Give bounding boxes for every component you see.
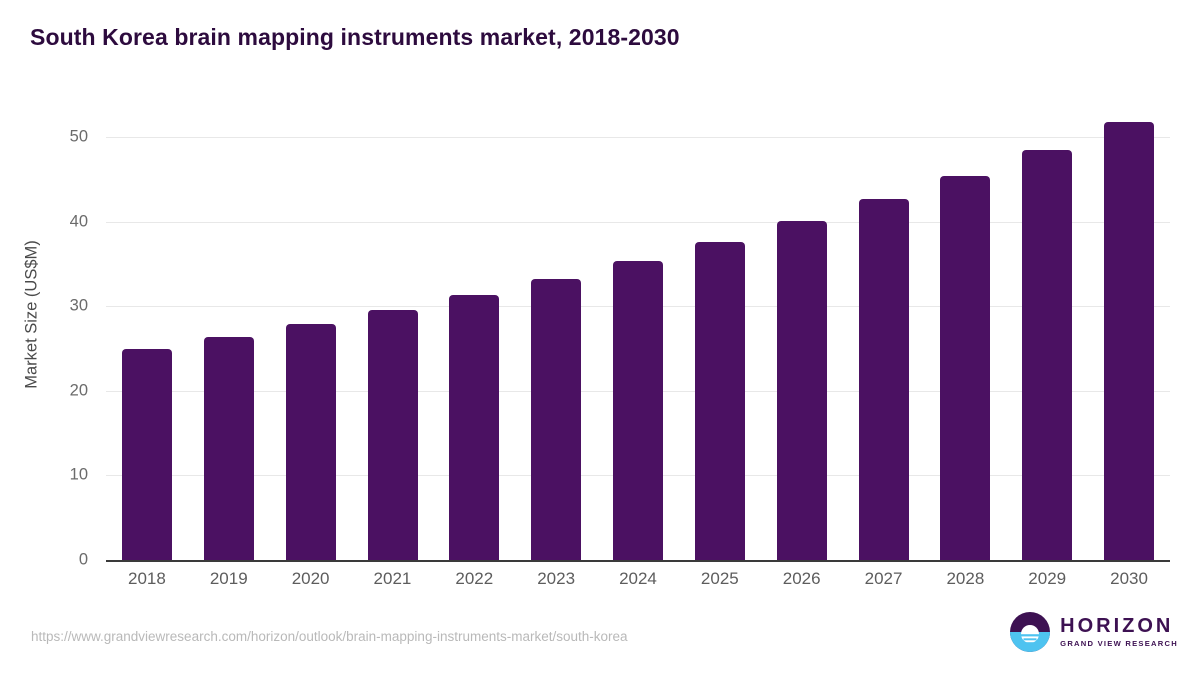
x-tick-label-2019: 2019 bbox=[188, 569, 270, 589]
x-tick-label-2020: 2020 bbox=[270, 569, 352, 589]
bar-2020[interactable] bbox=[286, 324, 336, 560]
horizon-logo[interactable]: HORIZON GRAND VIEW RESEARCH bbox=[1010, 612, 1178, 652]
logo-tagline: GRAND VIEW RESEARCH bbox=[1060, 640, 1178, 648]
x-axis-line bbox=[106, 560, 1170, 562]
y-axis-tick-labels: 01020304050 bbox=[0, 95, 100, 595]
bar-series bbox=[106, 95, 1170, 560]
chart-plot-area: Market Size (US$M) 01020304050 201820192… bbox=[0, 95, 1200, 595]
bar-slot bbox=[761, 95, 843, 560]
y-tick-label: 0 bbox=[79, 551, 88, 570]
bar-slot bbox=[1088, 95, 1170, 560]
x-axis-tick-labels: 2018201920202021202220232024202520262027… bbox=[106, 569, 1170, 599]
bar-2030[interactable] bbox=[1104, 122, 1154, 560]
bar-slot bbox=[433, 95, 515, 560]
bar-slot bbox=[597, 95, 679, 560]
bar-slot bbox=[924, 95, 1006, 560]
bar-slot bbox=[106, 95, 188, 560]
horizon-sunset-icon bbox=[1010, 612, 1050, 652]
bar-2028[interactable] bbox=[940, 176, 990, 560]
page-title: South Korea brain mapping instruments ma… bbox=[30, 24, 680, 51]
x-tick-label-2023: 2023 bbox=[515, 569, 597, 589]
source-url[interactable]: https://www.grandviewresearch.com/horizo… bbox=[31, 629, 628, 644]
x-tick-label-2021: 2021 bbox=[352, 569, 434, 589]
bar-2026[interactable] bbox=[777, 221, 827, 560]
bar-2024[interactable] bbox=[613, 261, 663, 560]
bar-2027[interactable] bbox=[859, 199, 909, 560]
y-tick-label: 10 bbox=[70, 466, 88, 485]
y-tick-label: 30 bbox=[70, 297, 88, 316]
bar-2022[interactable] bbox=[449, 295, 499, 560]
bar-slot bbox=[270, 95, 352, 560]
x-tick-label-2029: 2029 bbox=[1006, 569, 1088, 589]
y-tick-label: 50 bbox=[70, 128, 88, 147]
bar-2029[interactable] bbox=[1022, 150, 1072, 560]
bar-slot bbox=[188, 95, 270, 560]
bar-slot bbox=[515, 95, 597, 560]
y-tick-label: 40 bbox=[70, 212, 88, 231]
x-tick-label-2030: 2030 bbox=[1088, 569, 1170, 589]
x-tick-label-2024: 2024 bbox=[597, 569, 679, 589]
bar-slot bbox=[843, 95, 925, 560]
x-tick-label-2018: 2018 bbox=[106, 569, 188, 589]
chart-page: South Korea brain mapping instruments ma… bbox=[0, 0, 1200, 675]
logo-wordmark: HORIZON GRAND VIEW RESEARCH bbox=[1060, 616, 1178, 648]
x-tick-label-2022: 2022 bbox=[433, 569, 515, 589]
y-tick-label: 20 bbox=[70, 381, 88, 400]
bar-2019[interactable] bbox=[204, 337, 254, 560]
bar-slot bbox=[679, 95, 761, 560]
x-tick-label-2025: 2025 bbox=[679, 569, 761, 589]
bar-2021[interactable] bbox=[368, 310, 418, 560]
bar-2025[interactable] bbox=[695, 242, 745, 560]
bar-slot bbox=[1006, 95, 1088, 560]
logo-name: HORIZON bbox=[1060, 616, 1178, 636]
bar-2023[interactable] bbox=[531, 279, 581, 560]
bar-2018[interactable] bbox=[122, 349, 172, 560]
x-tick-label-2027: 2027 bbox=[843, 569, 925, 589]
x-tick-label-2028: 2028 bbox=[924, 569, 1006, 589]
x-tick-label-2026: 2026 bbox=[761, 569, 843, 589]
bar-slot bbox=[352, 95, 434, 560]
